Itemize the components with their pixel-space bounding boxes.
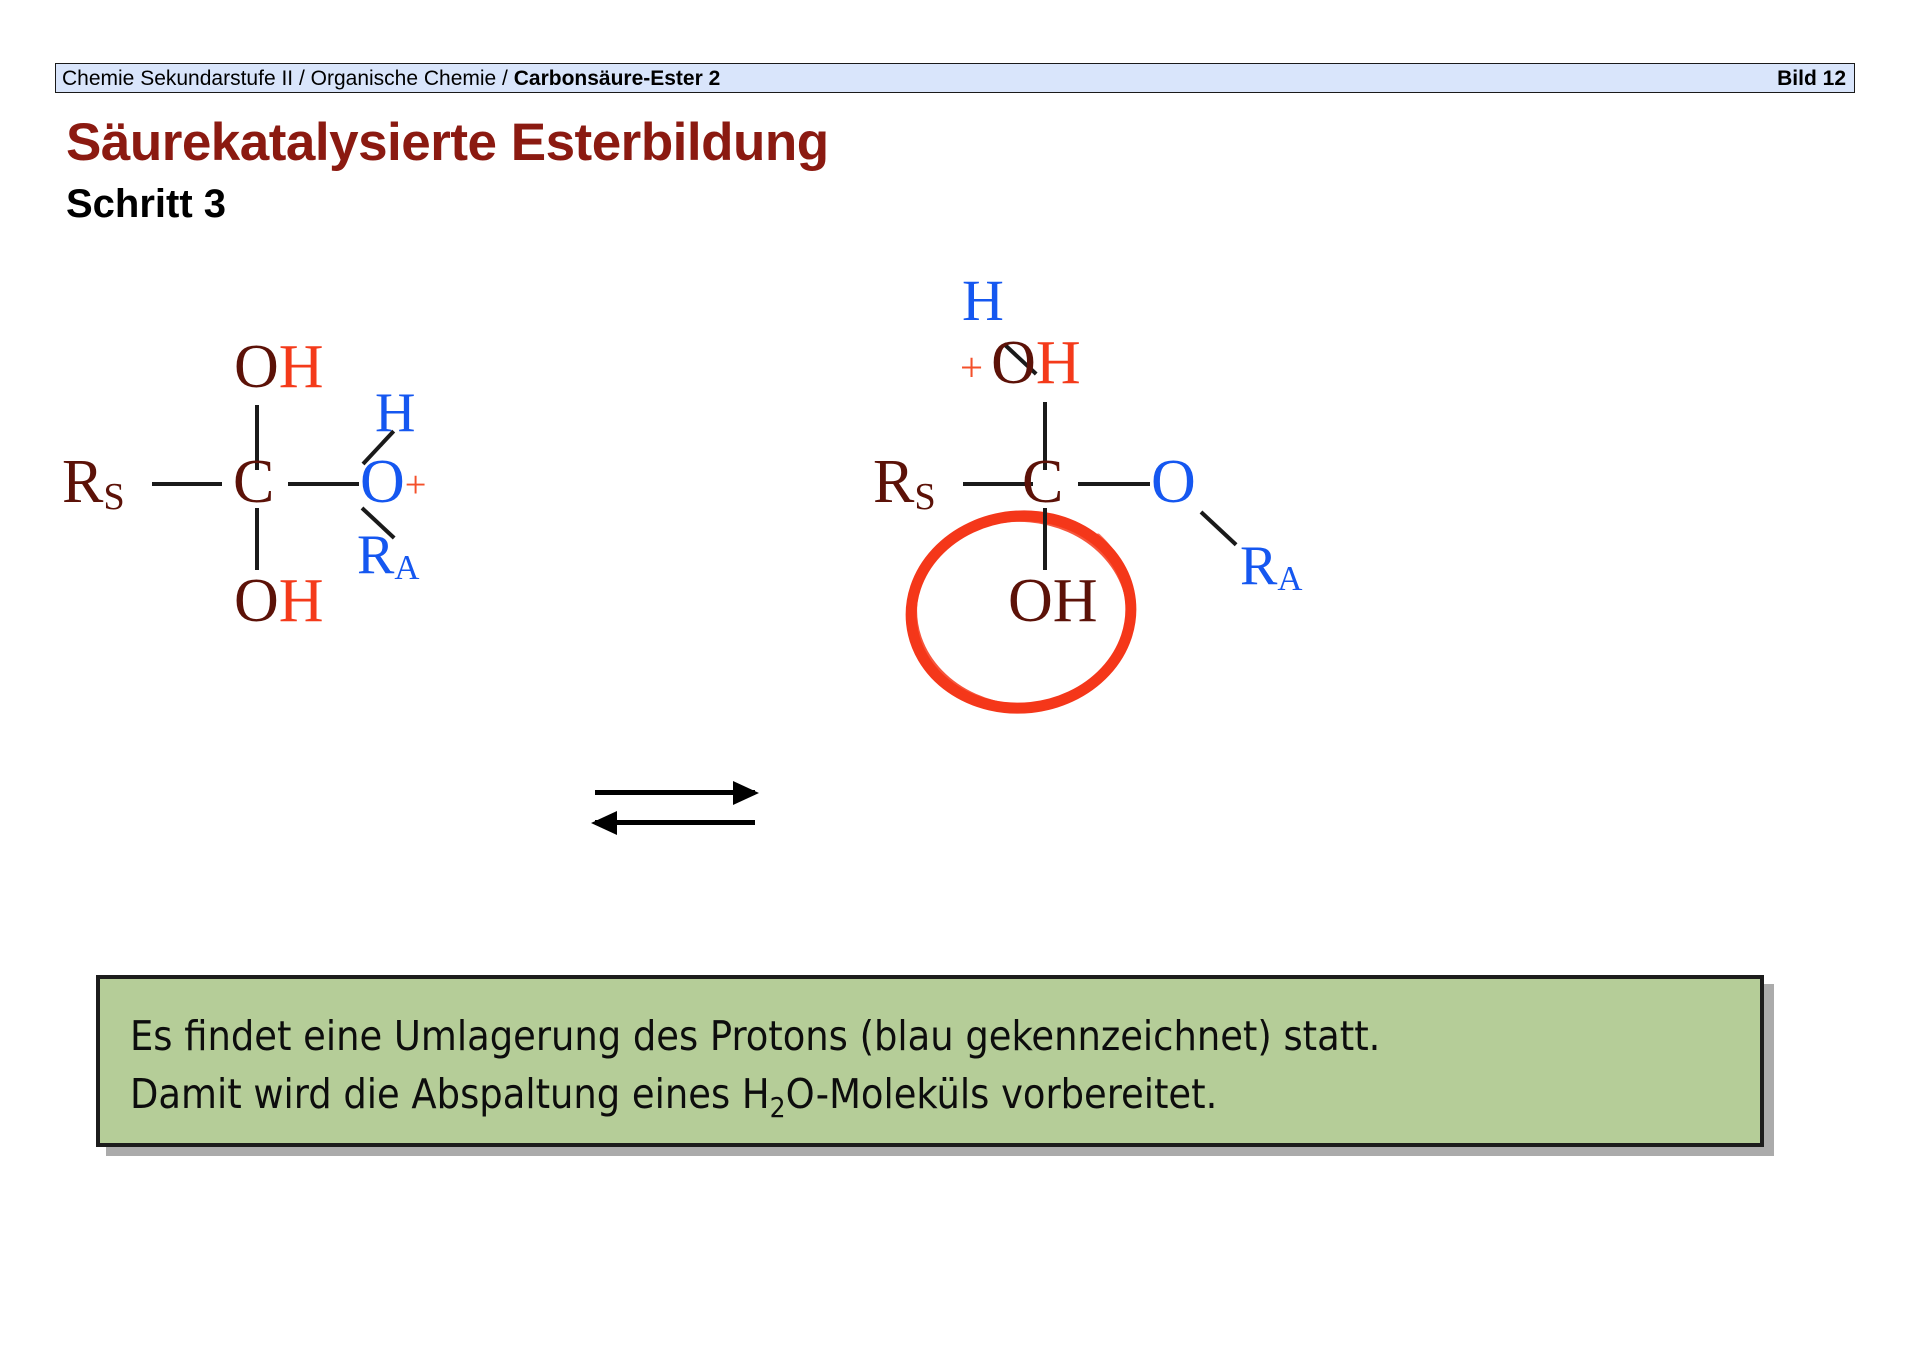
atom-label-ra-right: RA bbox=[1240, 538, 1302, 594]
breadcrumb-current: Carbonsäure-Ester 2 bbox=[514, 67, 721, 90]
atom-label-bottom-oh: OH bbox=[234, 570, 324, 632]
arrow-forward-line bbox=[595, 790, 755, 795]
atom-label-c-left: C bbox=[233, 451, 274, 513]
atom-label-rs: RS bbox=[62, 451, 125, 513]
breadcrumb-path: Chemie Sekundarstufe II / Organische Che… bbox=[62, 67, 514, 90]
atom-label-oxonium-h: H bbox=[375, 385, 415, 441]
atom-label-c-right: C bbox=[1022, 451, 1063, 513]
note-line-2-part1: Damit wird die Abspaltung eines H bbox=[130, 1070, 770, 1118]
arrow-reverse-line bbox=[595, 820, 755, 825]
reaction-scheme: OH RS C OH O+ H RA bbox=[0, 230, 1914, 750]
bond-ether-o-to-ra bbox=[1200, 511, 1238, 547]
note-line-2-part2: O-Moleküls vorbereitet. bbox=[786, 1070, 1218, 1118]
atom-label-oxonium: O+ bbox=[360, 451, 426, 513]
bond-c-to-oxonium bbox=[288, 482, 359, 486]
page-title: Säurekatalysierte Esterbildung bbox=[66, 112, 829, 173]
note-box: Es findet eine Umlagerung des Protons (b… bbox=[96, 975, 1764, 1147]
atom-label-top-oh-right: +OH bbox=[960, 332, 1081, 394]
bond-c-to-bottom-oh bbox=[255, 508, 259, 570]
atom-label-bottom-oh-right: OH bbox=[1008, 570, 1098, 632]
atom-label-ether-o: O bbox=[1151, 451, 1196, 513]
bond-c-to-ether-o bbox=[1078, 482, 1150, 486]
atom-label-migrated-h: H bbox=[962, 272, 1004, 330]
atom-label-top-oh: OH bbox=[234, 336, 324, 398]
slide-number: Bild 12 bbox=[1777, 68, 1846, 89]
note-line-2-subscript: 2 bbox=[770, 1091, 786, 1124]
arrow-forward-head-icon bbox=[733, 781, 759, 805]
bond-rs-to-c bbox=[152, 482, 222, 486]
arrow-reverse-head-icon bbox=[591, 811, 617, 835]
page-subtitle: Schritt 3 bbox=[66, 182, 226, 227]
equilibrium-arrows bbox=[595, 780, 765, 850]
breadcrumb: Chemie Sekundarstufe II / Organische Che… bbox=[62, 68, 720, 89]
bond-c-to-bottom-oh-right bbox=[1043, 508, 1047, 570]
note-line-2: Damit wird die Abspaltung eines H2O-Mole… bbox=[130, 1065, 1760, 1128]
atom-label-rs-right: RS bbox=[873, 451, 936, 513]
note-line-1: Es findet eine Umlagerung des Protons (b… bbox=[130, 1007, 1760, 1065]
header-bar: Chemie Sekundarstufe II / Organische Che… bbox=[55, 63, 1855, 93]
